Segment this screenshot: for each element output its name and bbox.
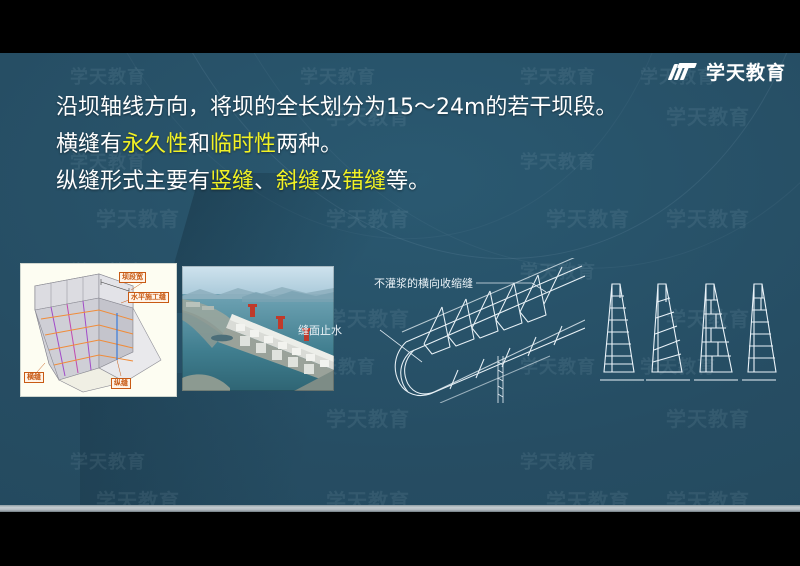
line-3-segment-4: 及 bbox=[320, 169, 342, 194]
figure-1-label-3: 纵缝 bbox=[111, 378, 131, 389]
watermark: 学天教育 bbox=[96, 485, 180, 505]
line-2-segment-3: 临时性 bbox=[210, 132, 276, 157]
line-3-segment-3: 斜缝 bbox=[276, 169, 320, 194]
line-3: 纵缝形式主要有竖缝、斜缝及错缝等。 bbox=[56, 163, 617, 200]
figure-3-label-0: 不灌浆的横向收缩缝 bbox=[374, 275, 473, 291]
slide-bottom-strip bbox=[0, 505, 800, 512]
watermark: 学天教育 bbox=[326, 485, 410, 505]
slide-stage: 学天教育学天教育学天教育学天教育学天教育学天教育学天教育学天教育学天教育学天教育… bbox=[0, 0, 800, 566]
figure-3-label-1: 缝面止水 bbox=[298, 322, 342, 338]
line-1-segment-0: 沿坝轴线方向，将坝的全长划分为15～24m的若干坝段。 bbox=[56, 95, 617, 120]
figure-row: 坝段宽 水平施工缝 横缝 纵缝 bbox=[0, 258, 800, 403]
logo-text: 学天教育 bbox=[706, 58, 786, 85]
line-2-segment-1: 永久性 bbox=[122, 132, 188, 157]
line-3-segment-2: 、 bbox=[254, 169, 276, 194]
fig4-svg bbox=[598, 268, 778, 398]
watermark: 学天教育 bbox=[70, 448, 146, 474]
watermark: 学天教育 bbox=[96, 203, 180, 232]
watermark: 学天教育 bbox=[666, 101, 750, 130]
watermark: 学天教育 bbox=[666, 403, 750, 432]
figure-1-label-0: 坝段宽 bbox=[119, 272, 146, 283]
figure-contraction-joint-drawing: 不灌浆的横向收缩缝 缝面止水 bbox=[350, 258, 585, 403]
line-3-segment-5: 错缝 bbox=[342, 169, 386, 194]
watermark: 学天教育 bbox=[326, 203, 410, 232]
watermark: 学天教育 bbox=[546, 203, 630, 232]
slide-canvas: 学天教育学天教育学天教育学天教育学天教育学天教育学天教育学天教育学天教育学天教育… bbox=[0, 53, 800, 505]
line-3-segment-6: 等。 bbox=[386, 169, 430, 194]
line-3-segment-0: 纵缝形式主要有 bbox=[56, 169, 210, 194]
line-2-segment-4: 两种。 bbox=[276, 132, 342, 157]
watermark: 学天教育 bbox=[520, 448, 596, 474]
watermark: 学天教育 bbox=[326, 403, 410, 432]
figure-joint-section-types bbox=[598, 268, 778, 398]
slide-text-block: 沿坝轴线方向，将坝的全长划分为15～24m的若干坝段。横缝有永久性和临时性两种。… bbox=[56, 89, 617, 200]
line-1: 沿坝轴线方向，将坝的全长划分为15～24m的若干坝段。 bbox=[56, 89, 617, 126]
line-2-segment-0: 横缝有 bbox=[56, 132, 122, 157]
letterbox-bottom bbox=[0, 512, 800, 566]
figure-dam-block-isometric: 坝段宽 水平施工缝 横缝 纵缝 bbox=[20, 263, 177, 397]
watermark: 学天教育 bbox=[666, 485, 750, 505]
line-3-segment-1: 竖缝 bbox=[210, 169, 254, 194]
logo-mark-icon bbox=[670, 62, 700, 82]
figure-1-label-2: 横缝 bbox=[24, 372, 44, 383]
watermark: 学天教育 bbox=[520, 63, 596, 89]
line-2-segment-2: 和 bbox=[188, 132, 210, 157]
figure-1-label-1: 水平施工缝 bbox=[128, 292, 169, 303]
brand-logo: 学天教育 bbox=[670, 58, 786, 85]
fig1-svg bbox=[21, 264, 177, 397]
letterbox-top bbox=[0, 0, 800, 53]
watermark: 学天教育 bbox=[300, 63, 376, 89]
watermark: 学天教育 bbox=[666, 203, 750, 232]
line-2: 横缝有永久性和临时性两种。 bbox=[56, 126, 617, 163]
watermark: 学天教育 bbox=[70, 63, 146, 89]
watermark: 学天教育 bbox=[546, 485, 630, 505]
